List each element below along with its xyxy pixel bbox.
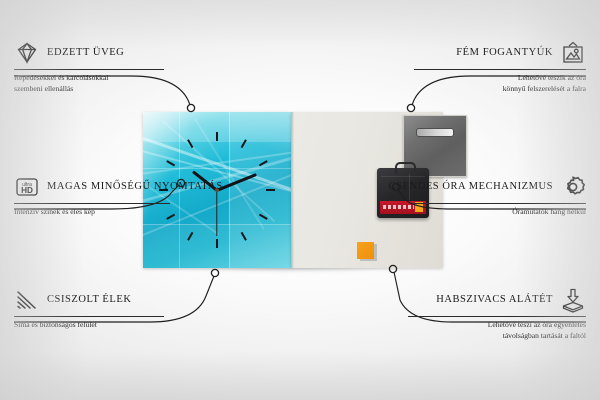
divider xyxy=(414,69,586,70)
diamond-icon xyxy=(14,40,40,66)
foam-spacer-pad xyxy=(357,242,374,259)
feature-title: CSISZOLT ÉLEK xyxy=(47,294,131,307)
mechanism-hanger-loop xyxy=(395,162,416,174)
infographic-canvas: EDZETT ÜVEG Repedésekkel és karcolásokka… xyxy=(0,0,600,400)
clock-tick xyxy=(216,239,218,248)
feature-silent-mechanism: CSENDES ÓRA MECHANIZMUS Óramutatók hang … xyxy=(414,174,586,218)
divider xyxy=(408,316,586,317)
gear-icon xyxy=(560,174,586,200)
feature-foam-pad: HABSZIVACS ALÁTÉT Lehetővé teszi az óra … xyxy=(408,287,586,342)
feature-description: Sima és biztonságos felület xyxy=(14,320,164,331)
feature-polished-edges: CSISZOLT ÉLEK Sima és biztonságos felüle… xyxy=(14,287,164,331)
clock-tick xyxy=(266,189,275,191)
ultra-hd-icon: ultra HD xyxy=(14,174,40,200)
feature-description: Intenzív színek és éles kép xyxy=(14,207,170,218)
panel-edge xyxy=(291,112,294,268)
picture-hanger-icon xyxy=(560,40,586,66)
feature-title: EDZETT ÜVEG xyxy=(47,47,124,60)
feature-tempered-glass: EDZETT ÜVEG Repedésekkel és karcolásokka… xyxy=(14,40,164,95)
divider xyxy=(14,69,164,70)
clock-tick xyxy=(166,160,175,166)
feature-title: MAGAS MINŐSÉGŰ NYOMTATÁS xyxy=(47,181,223,194)
feature-title: FÉM FOGANTYÚK xyxy=(456,47,553,60)
feature-description: Lehetővé teszi az óra egyenletes távolsá… xyxy=(408,320,586,342)
clock-tick xyxy=(216,132,218,141)
battery-label xyxy=(383,205,414,209)
feature-metal-handles: FÉM FOGANTYÚK Lehetővé teszik az óra kön… xyxy=(414,40,586,95)
feature-description: Lehetővé teszik az óra könnyű felszerelé… xyxy=(414,73,586,95)
svg-text:HD: HD xyxy=(21,186,33,195)
polished-edges-icon xyxy=(14,287,40,313)
hanger-slot xyxy=(416,128,454,137)
feature-description: Repedésekkel és karcolásokkal szembeni e… xyxy=(14,73,164,95)
feature-description: Óramutatók hang nélkül xyxy=(414,207,586,218)
feature-high-quality-print: ultra HD MAGAS MINŐSÉGŰ NYOMTATÁS Intenz… xyxy=(14,174,170,218)
divider xyxy=(414,203,586,204)
divider xyxy=(14,316,164,317)
foam-pad-icon xyxy=(560,287,586,313)
divider xyxy=(14,203,170,204)
feature-title: CSENDES ÓRA MECHANIZMUS xyxy=(389,181,553,194)
feature-title: HABSZIVACS ALÁTÉT xyxy=(436,294,553,307)
